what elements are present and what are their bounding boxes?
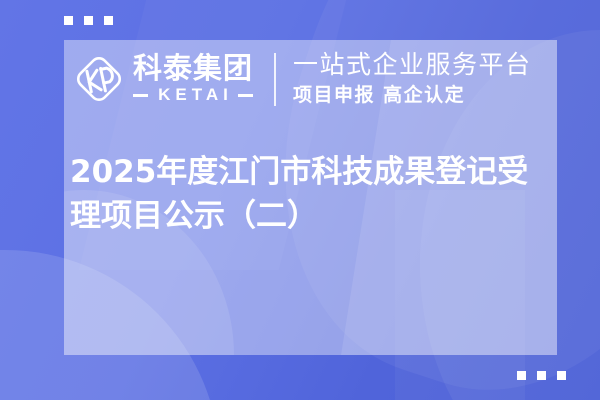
square-dot-icon bbox=[557, 371, 566, 380]
square-dot-icon bbox=[537, 371, 546, 380]
logo-rule-right bbox=[238, 94, 253, 97]
page-title: 2025年度江门市科技成果登记受理项目公示（二） bbox=[70, 150, 550, 238]
logo-rule-left bbox=[133, 94, 148, 97]
tagline-sub: 项目申报 高企认定 bbox=[293, 83, 532, 108]
brand-header: 科泰集团 KETAI 一站式企业服务平台 项目申报 高企认定 bbox=[64, 40, 557, 118]
logo-wordmark: 科泰集团 KETAI bbox=[133, 53, 253, 105]
square-dot-icon bbox=[64, 16, 73, 25]
decorative-dots-top-left bbox=[64, 16, 113, 25]
tagline-block: 一站式企业服务平台 项目申报 高企认定 bbox=[293, 51, 532, 107]
brand-divider bbox=[274, 53, 276, 106]
content-card: 科泰集团 KETAI 一站式企业服务平台 项目申报 高企认定 2025年度江门市… bbox=[64, 40, 557, 355]
poster-canvas: 科泰集团 KETAI 一站式企业服务平台 项目申报 高企认定 2025年度江门市… bbox=[0, 0, 600, 400]
logo-english-name: KETAI bbox=[153, 85, 233, 105]
square-dot-icon bbox=[84, 16, 93, 25]
logo-chinese-name: 科泰集团 bbox=[133, 53, 253, 83]
square-dot-icon bbox=[104, 16, 113, 25]
kp-monogram-diamond-icon bbox=[72, 52, 126, 106]
decorative-dots-bottom-right bbox=[517, 371, 566, 380]
logo-english-row: KETAI bbox=[133, 85, 253, 105]
tagline-main: 一站式企业服务平台 bbox=[293, 51, 532, 80]
square-dot-icon bbox=[517, 371, 526, 380]
